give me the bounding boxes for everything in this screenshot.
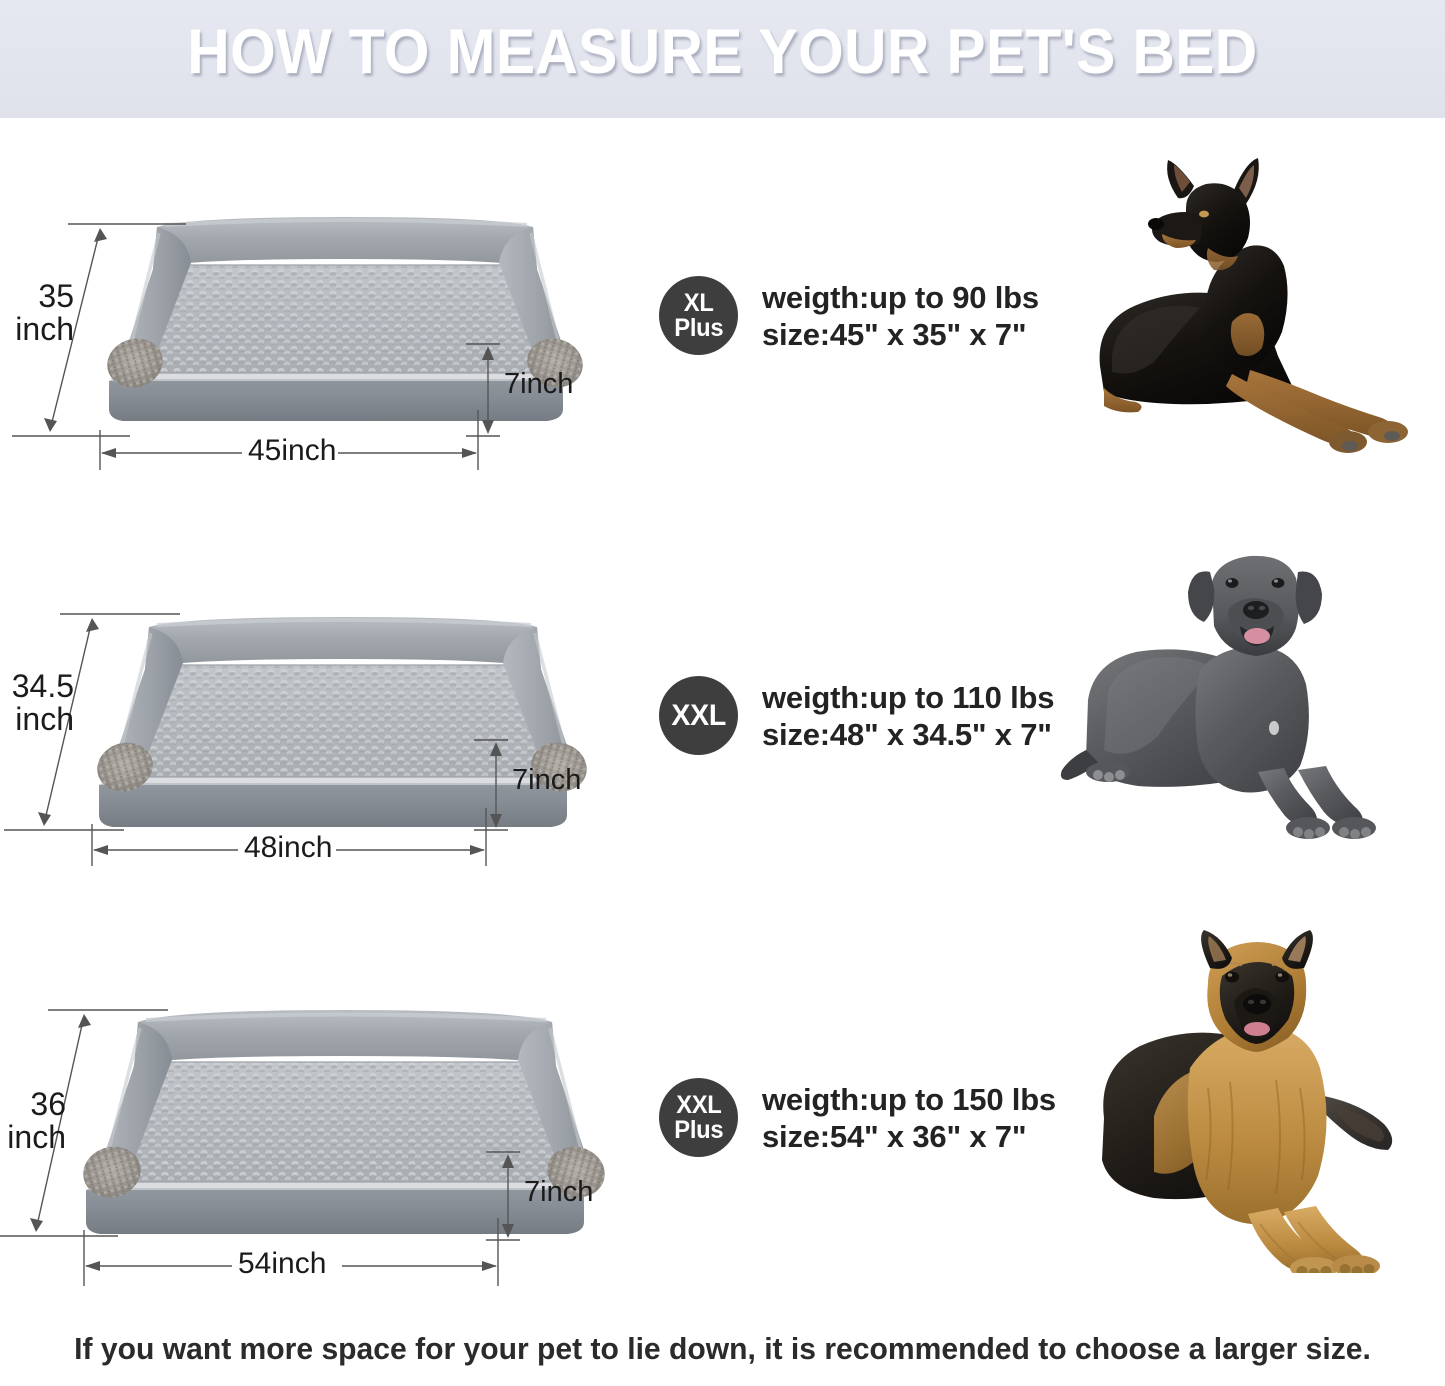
height-label-xxl-plus: 7inch xyxy=(524,1178,593,1208)
width-label-xxl-plus: 54inch xyxy=(238,1249,326,1280)
weight-text-xxl: weigth:up to 110 lbs xyxy=(762,679,1054,716)
dog-photo-doberman xyxy=(1082,156,1434,456)
size-text-xxl-plus: size:54" x 36" x 7" xyxy=(762,1118,1056,1155)
weight-text-xxl-plus: weigth:up to 150 lbs xyxy=(762,1081,1056,1118)
badge-line-2: Plus xyxy=(674,1118,723,1143)
depth-label-xl-plus: 35 inch xyxy=(0,280,74,345)
weight-text-xl-plus: weigth:up to 90 lbs xyxy=(762,279,1039,316)
spec-text-xxl-plus: weigth:up to 150 lbs size:54" x 36" x 7" xyxy=(762,1081,1056,1155)
spec-xxl: XXL weigth:up to 110 lbs size:48" x 34.5… xyxy=(659,676,1054,755)
spec-text-xxl: weigth:up to 110 lbs size:48" x 34.5" x … xyxy=(762,679,1054,753)
infographic-page: HOW TO MEASURE YOUR PET'S BED xyxy=(0,0,1445,1386)
height-label-xxl: 7inch xyxy=(512,766,581,796)
size-text-xl-plus: size:45" x 35" x 7" xyxy=(762,316,1039,353)
size-text-xxl: size:48" x 34.5" x 7" xyxy=(762,716,1054,753)
dimension-lines-xxl xyxy=(0,518,722,918)
badge-line-1: XXL xyxy=(676,1093,721,1118)
width-label-xl-plus: 45inch xyxy=(248,436,336,467)
great-dane-svg xyxy=(1052,550,1438,850)
size-badge-xxl-plus: XXL Plus xyxy=(659,1078,738,1157)
size-row-xxl-plus: 36 inch 54inch 7inch XXL Plus weigth:up … xyxy=(0,918,1445,1318)
spec-xxl-plus: XXL Plus weigth:up to 150 lbs size:54" x… xyxy=(659,1078,1056,1157)
badge-line-1: XXL xyxy=(671,700,726,732)
size-badge-xxl: XXL xyxy=(659,676,738,755)
depth-label-xxl-plus: 36 inch xyxy=(0,1088,66,1153)
size-row-xxl: 34.5 inch 48inch 7inch XXL weigth:up to … xyxy=(0,518,1445,918)
page-title: HOW TO MEASURE YOUR PET'S BED xyxy=(51,14,1395,90)
dimension-lines-xxl-plus xyxy=(0,918,722,1318)
dog-photo-great-dane xyxy=(1052,550,1438,850)
badge-line-1: XL xyxy=(684,291,714,316)
dimension-lines-xl-plus xyxy=(0,118,722,518)
size-row-xl-plus: 35 inch 45inch 7inch XL Plus weigth:up t… xyxy=(0,118,1445,518)
height-label-xl-plus: 7inch xyxy=(504,370,573,400)
spec-text-xl-plus: weigth:up to 90 lbs size:45" x 35" x 7" xyxy=(762,279,1039,353)
dog-photo-german-shepherd xyxy=(1062,928,1442,1273)
width-label-xxl: 48inch xyxy=(244,833,332,864)
doberman-svg xyxy=(1082,156,1434,456)
spec-xl-plus: XL Plus weigth:up to 90 lbs size:45" x 3… xyxy=(659,276,1039,355)
badge-line-2: Plus xyxy=(674,316,723,341)
german-shepherd-svg xyxy=(1062,928,1442,1273)
size-badge-xl-plus: XL Plus xyxy=(659,276,738,355)
depth-label-xxl: 34.5 inch xyxy=(0,670,74,735)
footer-note: If you want more space for your pet to l… xyxy=(22,1330,1424,1368)
